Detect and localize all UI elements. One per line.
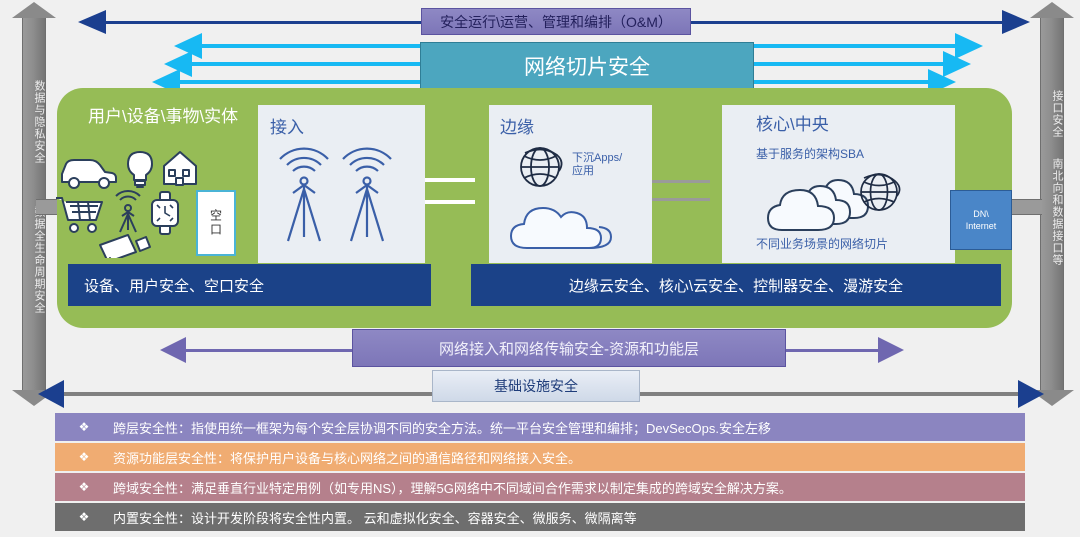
right-axis-label-bottom: 南北向和数据接口等: [1041, 158, 1063, 266]
panel-edge-note-line1: 下沉Apps/: [572, 152, 622, 165]
resource-arrow-left-head: [160, 337, 186, 363]
om-arrow-left-head: [78, 10, 106, 34]
panel-edge-note: 下沉Apps/ 应用: [572, 152, 622, 178]
stage-title: 用户\设备\事物\实体: [88, 102, 238, 127]
cell-tower-left-icon: [280, 149, 328, 241]
access-tower-icons: [266, 145, 416, 255]
dn-line2: Internet: [966, 221, 997, 231]
right-axis-label-top: 接口安全: [1041, 90, 1063, 138]
statement-text-2: 跨域安全性：满足垂直行业特定用例（如专用NS），理解5G网络中不同域间合作需求以…: [113, 478, 1025, 497]
right-axis-stub-arrow: [1012, 199, 1042, 215]
diagram-canvas: 数据与隐私安全 数据全生命周期安全 接口安全 南北向和数据接口等 安全运行\运营…: [0, 0, 1080, 537]
infra-arrow-right-head: [1018, 380, 1044, 408]
panel-edge-note-line2: 应用: [572, 165, 622, 178]
left-axis-label-top: 数据与隐私安全: [23, 80, 45, 164]
om-arrow-right-head: [1002, 10, 1030, 34]
network-slice-chip: 网络切片安全: [420, 42, 754, 90]
resource-arrow-right-head: [878, 337, 904, 363]
infrastructure-chip: 基础设施安全: [432, 370, 640, 402]
right-axis-arrow-up: [1030, 2, 1074, 18]
statement-text-3: 内置安全性：设计开发阶段将安全性内置。 云和虚拟化安全、容器安全、微服务、微隔离…: [113, 508, 1025, 527]
infra-arrow-left-head: [38, 380, 64, 408]
resource-function-chip: 网络接入和网络传输安全-资源和功能层: [352, 329, 786, 367]
statement-bullet-0: ❖: [55, 420, 113, 434]
connector-edge-core-1: [652, 180, 710, 183]
statement-row-0: ❖ 跨层安全性：指使用统一框架为每个安全层协调不同的安全方法。统一平台安全管理和…: [55, 413, 1025, 441]
statement-bullet-3: ❖: [55, 510, 113, 524]
car-icon: [62, 160, 116, 188]
panel-edge-title: 边缘: [500, 113, 534, 138]
left-axis-label-bottom: 数据全生命周期安全: [23, 206, 45, 314]
panel-core-note-bottom: 不同业务场景的网络切片: [756, 238, 888, 251]
statement-row-3: ❖ 内置安全性：设计开发阶段将安全性内置。 云和虚拟化安全、容器安全、微服务、微…: [55, 503, 1025, 531]
smartwatch-icon: [152, 192, 178, 234]
house-icon: [164, 152, 196, 185]
antenna-icon: [116, 191, 140, 232]
om-chip: 安全运行\运营、管理和编排（O&M）: [421, 8, 691, 35]
lightbulb-icon: [128, 152, 152, 187]
connector-edge-core-2: [652, 198, 710, 201]
connector-access-edge-3: [425, 200, 475, 204]
blue-bar-left: 设备、用户安全、空口安全: [68, 264, 431, 306]
panel-access-title: 接入: [270, 113, 304, 138]
core-cloud-stack-icon: [760, 168, 910, 234]
statement-row-1: ❖ 资源功能层安全性：将保护用户设备与核心网络之间的通信路径和网络接入安全。: [55, 443, 1025, 471]
cell-tower-right-icon: [343, 149, 391, 241]
dn-internet-box: DN\ Internet: [950, 190, 1012, 250]
statement-row-2: ❖ 跨域安全性：满足垂直行业特定用例（如专用NS），理解5G网络中不同域间合作需…: [55, 473, 1025, 501]
camera-icon: [88, 235, 150, 258]
edge-cloud-icon: [505, 190, 625, 256]
blue-bar-right: 边缘云安全、核心\云安全、控制器安全、漫游安全: [471, 264, 1001, 306]
connector-access-edge-2: [425, 190, 475, 200]
device-icons-group: [52, 140, 212, 258]
panel-core-note-top: 基于服务的架构SBA: [756, 148, 864, 161]
right-vertical-axis: 接口安全 南北向和数据接口等: [1040, 18, 1064, 390]
air-interface-box: 空口: [196, 190, 236, 256]
edge-globe-icon: [513, 143, 569, 191]
statement-bullet-1: ❖: [55, 450, 113, 464]
dn-line1: DN\: [973, 209, 989, 219]
statement-bullet-2: ❖: [55, 480, 113, 494]
statement-text-1: 资源功能层安全性：将保护用户设备与核心网络之间的通信路径和网络接入安全。: [113, 448, 1025, 467]
connector-access-edge-1: [425, 178, 475, 182]
left-axis-arrow-up: [12, 2, 56, 18]
statement-text-0: 跨层安全性：指使用统一框架为每个安全层协调不同的安全方法。统一平台安全管理和编排…: [113, 418, 1025, 437]
dn-internet-label: DN\ Internet: [966, 208, 997, 232]
panel-core-title: 核心\中央: [756, 110, 829, 135]
shopping-cart-icon: [56, 198, 102, 232]
